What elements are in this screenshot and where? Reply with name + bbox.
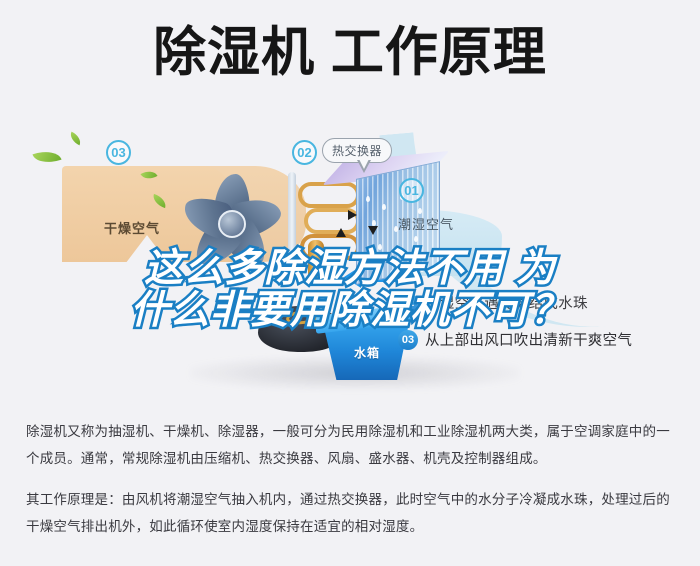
fan-hub: [218, 210, 246, 238]
receiver-cylinder: [308, 240, 324, 280]
page-title-text: 除湿机 工作原理: [153, 26, 547, 79]
page-root: 除湿机 工作原理 干燥空气: [0, 0, 700, 566]
step-caption-list: 02 潮湿空气遇冷凝结成水珠 03 从上部出风口吹出清新干爽空气: [398, 292, 694, 366]
body-copy: 除湿机又称为抽湿机、干燥机、除湿器，一般可分为民用除湿机和工业除湿机两大类，属于…: [26, 418, 676, 546]
body-paragraph-1: 除湿机又称为抽湿机、干燥机、除湿器，一般可分为民用除湿机和工业除湿机两大类，属于…: [26, 418, 676, 472]
step-caption-row: 02 潮湿空气遇冷凝结成水珠: [398, 292, 694, 313]
leaf-icon: [32, 146, 61, 167]
step-marker-03: 03: [106, 140, 131, 165]
fan-illustration: [178, 166, 286, 270]
step-badge-02: 02: [398, 293, 418, 313]
flow-arrow-icon: [348, 210, 357, 220]
water-tank-illustration: 水箱: [318, 308, 410, 384]
callout-pointer-icon: [357, 160, 371, 173]
step-marker-02: 02: [292, 140, 317, 165]
coil-loop: [298, 182, 360, 208]
flow-arrow-icon: [336, 228, 346, 237]
step-caption-text: 从上部出风口吹出清新干爽空气: [425, 329, 632, 350]
step-marker-01: 01: [399, 178, 424, 203]
water-tank-label: 水箱: [354, 344, 380, 361]
step-caption-row: 03 从上部出风口吹出清新干爽空气: [398, 329, 694, 350]
condensation-droplets: [360, 192, 438, 278]
humid-air-label: 潮湿空气: [398, 214, 454, 233]
page-title: 除湿机 工作原理: [0, 26, 700, 79]
step-caption-text: 潮湿空气遇冷凝结成水珠: [425, 292, 588, 313]
step-badge-03: 03: [398, 330, 418, 350]
dry-air-label: 干燥空气: [104, 218, 160, 237]
leaf-icon: [68, 132, 84, 146]
machine-internals: [286, 162, 462, 312]
flow-arrow-icon: [368, 226, 378, 235]
body-paragraph-2: 其工作原理是：由风机将潮湿空气抽入机内，通过热交换器，此时空气中的水分子冷凝成水…: [26, 486, 676, 540]
